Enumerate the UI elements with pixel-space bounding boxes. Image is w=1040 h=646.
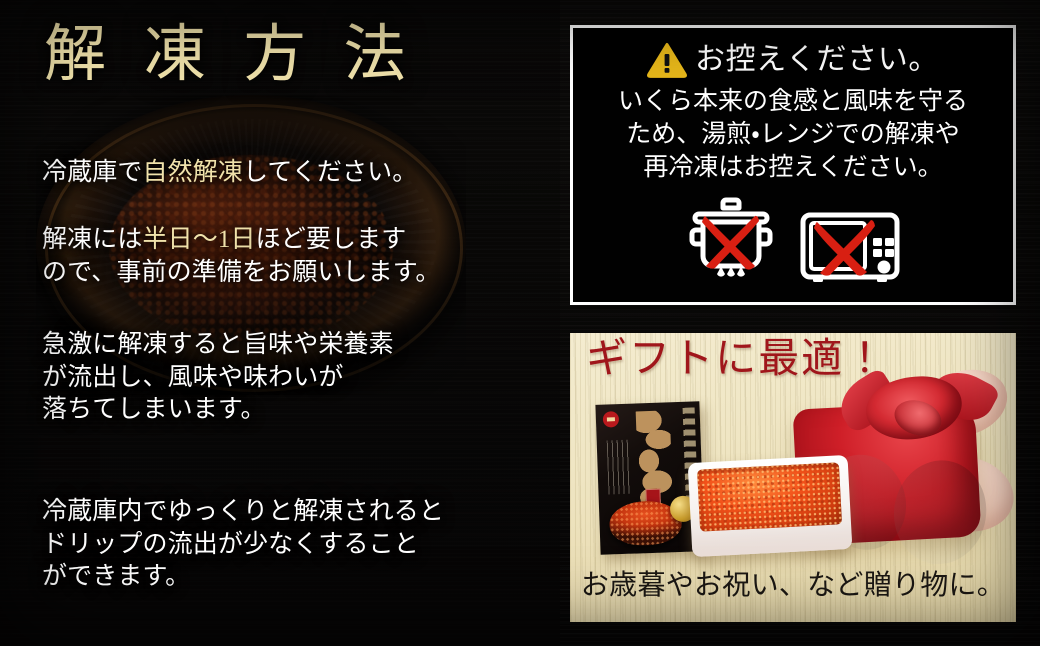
instruction-line: 冷蔵庫内でゆっくりと解凍されると [42,496,444,529]
instruction-line: が流出し、風味や味わいが [42,362,394,395]
warning-heading-row: お控えください。 [573,42,1013,78]
page-title: 解 凍 方 法 [44,24,417,86]
instruction-line: 落ちてしまいます。 [42,394,394,427]
furoshiki-fold-right [887,454,994,571]
gift-panel: ギフトに最適！ お歳暮やお祝い、など贈り物に。 [570,333,1016,622]
body-text: 落ちてしまいます。 [42,396,266,423]
instruction-line: ができます。 [42,561,444,594]
warning-triangle-icon [647,42,687,78]
tray-ikura-contents [697,462,842,531]
gift-title: ギフトに最適！ [586,338,887,379]
body-text: ができます。 [42,563,190,590]
instruction-paragraph-3: 急激に解凍すると旨味や栄養素が流出し、風味や味わいが落ちてしまいます。 [42,329,394,427]
microwave-oven-icon [799,210,901,290]
warning-body-line-1: いくら本来の食感と風味を守る [589,85,997,118]
warning-body-line-2: ため、湯煎・レンジでの解凍や [589,118,997,151]
instruction-paragraph-1: 冷蔵庫で自然解凍してください。 [42,157,417,190]
gift-footer-text: お歳暮やお祝い、など贈り物に。 [570,572,1016,600]
warning-heading-text: お控えください。 [695,45,939,75]
microwave-keypad [873,238,894,274]
warning-body-text: いくら本来の食感と風味を守る ため、湯煎・レンジでの解凍や 再冷凍はお控えくださ… [573,85,1013,184]
body-text: してください。 [243,159,417,186]
body-text: 冷蔵庫で [42,159,143,186]
microwave-dial [878,261,891,274]
ikura-tray [688,455,853,557]
instruction-line: 解凍には半日〜1日ほど要します [42,224,441,257]
pot-stove-icon [685,194,777,290]
body-text: ドリップの流出が少なくすること [42,531,419,558]
warning-box: お控えください。 いくら本来の食感と風味を守る ため、湯煎・レンジでの解凍や 再… [570,25,1016,305]
highlighted-text: 自然解凍 [143,159,244,186]
prohibited-methods-icons [573,194,1013,290]
instruction-paragraph-4: 冷蔵庫内でゆっくりと解凍されるとドリップの流出が少なくすることができます。 [42,496,444,594]
body-text: ので、事前の準備をお願いします。 [42,259,441,286]
body-text: 急激に解凍すると旨味や栄養素 [42,331,394,358]
body-text: 解凍には [42,226,143,253]
left-column: 解 凍 方 法 冷蔵庫で自然解凍してください。 解凍には半日〜1日ほど要しますの… [0,0,560,646]
warning-body-line-3: 再冷凍はお控えください。 [589,151,997,184]
body-text: が流出し、風味や味わいが [42,364,344,391]
freezing-instructions-banner: 解 凍 方 法 冷蔵庫で自然解凍してください。 解凍には半日〜1日ほど要しますの… [0,0,1040,646]
body-text: 冷蔵庫内でゆっくりと解凍されると [42,498,444,525]
brand-logo-icon [603,411,620,428]
instruction-line: 冷蔵庫で自然解凍してください。 [42,157,417,190]
body-text: ほど要します [256,226,407,253]
instruction-paragraph-2: 解凍には半日〜1日ほど要しますので、事前の準備をお願いします。 [42,224,441,289]
instruction-line: ドリップの流出が少なくすること [42,529,444,562]
highlighted-text: 半日〜1日 [143,226,256,253]
package-description-text [607,440,633,495]
instruction-line: 急激に解凍すると旨味や栄養素 [42,329,394,362]
instruction-line: ので、事前の準備をお願いします。 [42,257,441,290]
flame-icons [717,265,745,277]
